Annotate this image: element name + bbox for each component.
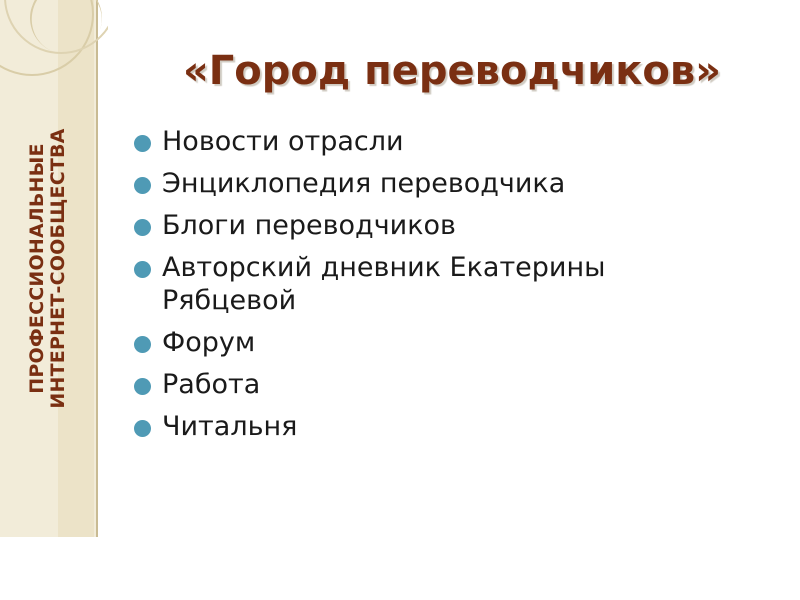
bullet-dot-icon: [134, 336, 151, 353]
bullet-dot-icon: [134, 261, 151, 278]
sidebar-band-inner: [58, 0, 94, 537]
list-item: Энциклопедия переводчика: [134, 168, 784, 201]
list-item: Новости отрасли: [134, 126, 784, 159]
list-item: Авторский дневник Екатерины Рябцевой: [134, 252, 784, 318]
list-item-label: Форум: [162, 327, 255, 360]
list-item-label: Новости отрасли: [162, 126, 404, 159]
list-item-label: Блоги переводчиков: [162, 210, 456, 243]
list-item-label: Энциклопедия переводчика: [162, 168, 565, 201]
bullet-dot-icon: [134, 378, 151, 395]
list-item-label: Работа: [162, 369, 260, 402]
bullet-list: Новости отрасли Энциклопедия переводчика…: [134, 126, 784, 453]
list-item: Форум: [134, 327, 784, 360]
list-item: Работа: [134, 369, 784, 402]
bullet-dot-icon: [134, 177, 151, 194]
list-item-label: Авторский дневник Екатерины Рябцевой: [162, 252, 722, 318]
slide-title: «Город переводчиков»: [120, 48, 784, 94]
list-item: Блоги переводчиков: [134, 210, 784, 243]
list-item-label: Читальня: [162, 411, 297, 444]
list-item: Читальня: [134, 411, 784, 444]
slide-content: «Город переводчиков» Новости отрасли Энц…: [120, 0, 800, 600]
bullet-dot-icon: [134, 420, 151, 437]
bullet-dot-icon: [134, 219, 151, 236]
bullet-dot-icon: [134, 135, 151, 152]
decorative-sidebar: ПРОФЕССИОНАЛЬНЫЕ ИНТЕРНЕТ-СООБЩЕСТВА: [0, 0, 108, 537]
slide: ПРОФЕССИОНАЛЬНЫЕ ИНТЕРНЕТ-СООБЩЕСТВА «Го…: [0, 0, 800, 600]
